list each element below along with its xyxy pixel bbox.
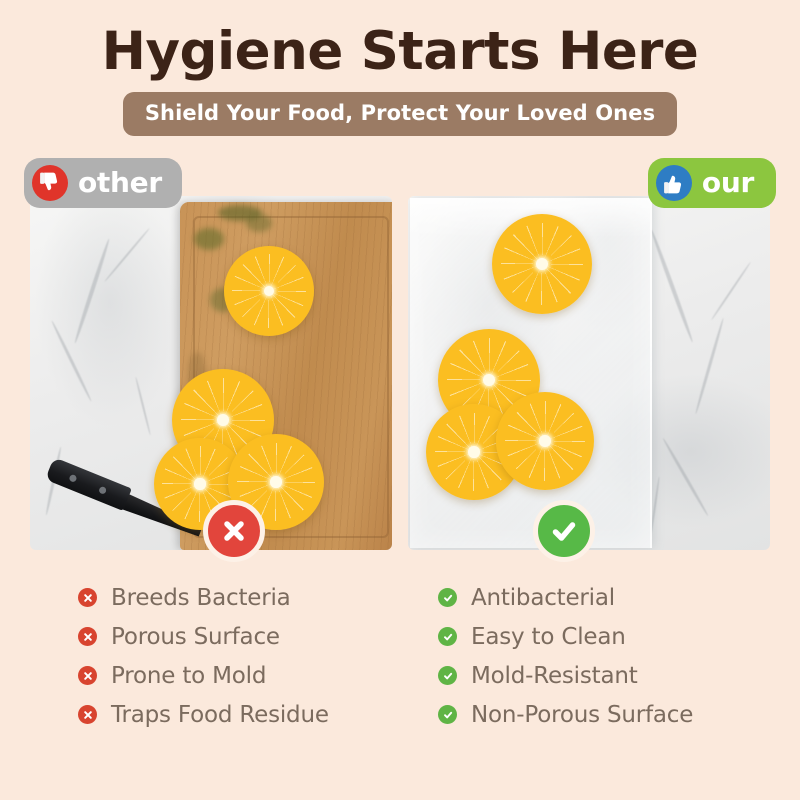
list-item: Traps Food Residue (78, 695, 400, 734)
cross-circle-icon (78, 627, 97, 646)
comparison-photo-our (408, 196, 770, 550)
list-item-label: Prone to Mold (111, 663, 266, 689)
list-item-label: Traps Food Residue (111, 702, 329, 728)
comparison-photo-other (30, 196, 392, 550)
subtitle-badge: Shield Your Food, Protect Your Loved One… (123, 92, 677, 136)
list-item-label: Easy to Clean (471, 624, 626, 650)
list-item-label: Breeds Bacteria (111, 585, 291, 611)
list-item: Breeds Bacteria (78, 578, 400, 617)
badge-other-label: other (78, 169, 162, 197)
knife-handle (45, 457, 132, 511)
list-item-label: Antibacterial (471, 585, 615, 611)
badge-our: our (648, 158, 776, 208)
header: Hygiene Starts Here Shield Your Food, Pr… (0, 0, 800, 136)
board-stain (194, 228, 224, 250)
list-item-label: Porous Surface (111, 624, 280, 650)
feature-lists: Breeds Bacteria Porous Surface Prone to … (0, 578, 800, 734)
list-item-label: Mold-Resistant (471, 663, 638, 689)
cross-icon (218, 515, 250, 547)
check-circle-icon (438, 705, 457, 724)
thumbs-up-icon (656, 165, 692, 201)
verdict-check-badge (533, 500, 595, 562)
list-item: Prone to Mold (78, 656, 400, 695)
cross-circle-icon (78, 666, 97, 685)
check-circle-icon (438, 627, 457, 646)
badge-other: other (24, 158, 182, 208)
badge-our-label: our (702, 169, 754, 197)
board-stain (246, 214, 272, 232)
subtitle-container: Shield Your Food, Protect Your Loved One… (0, 92, 800, 136)
list-item-label: Non-Porous Surface (471, 702, 693, 728)
orange-slice (224, 246, 314, 336)
check-icon (548, 515, 580, 547)
list-item: Porous Surface (78, 617, 400, 656)
check-circle-icon (438, 588, 457, 607)
page-title: Hygiene Starts Here (0, 0, 800, 80)
orange-slice (496, 392, 594, 490)
comparison-section (0, 196, 800, 556)
list-item: Antibacterial (438, 578, 800, 617)
cross-circle-icon (78, 588, 97, 607)
cross-circle-icon (78, 705, 97, 724)
list-item: Non-Porous Surface (438, 695, 800, 734)
orange-slice (492, 214, 592, 314)
list-item: Easy to Clean (438, 617, 800, 656)
list-item: Mold-Resistant (438, 656, 800, 695)
check-circle-icon (438, 666, 457, 685)
pros-list: Antibacterial Easy to Clean Mold-Resista… (400, 578, 800, 734)
thumbs-down-icon (32, 165, 68, 201)
cons-list: Breeds Bacteria Porous Surface Prone to … (0, 578, 400, 734)
verdict-cross-badge (203, 500, 265, 562)
